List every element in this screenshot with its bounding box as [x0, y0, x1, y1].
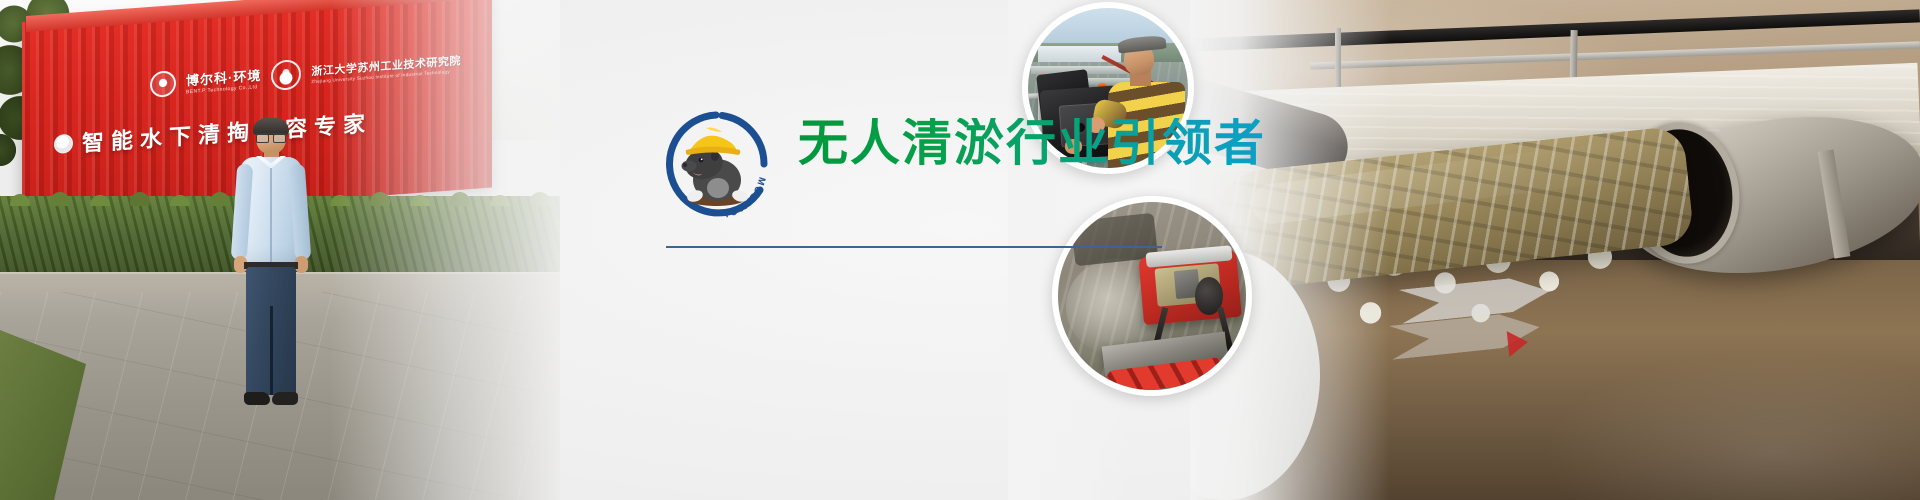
glasses-icon	[256, 133, 286, 140]
left-photo-fade	[330, 0, 560, 500]
right-photo-sludge-pipe	[1190, 0, 1920, 500]
left-photo-engineer-container: 博尔科·环境 BENT.P Technology Co.,Ltd 浙江大学苏州工…	[0, 0, 560, 500]
engineer-figure	[226, 120, 316, 410]
slogan-badge-icon	[54, 133, 73, 153]
mole-mascot-logo-icon: MUD MOLE	[660, 108, 772, 220]
page-title: 无人清淤行业引领者	[798, 118, 1266, 168]
hero-banner: 博尔科·环境 BENT.P Technology Co.,Ltd 浙江大学苏州工…	[0, 0, 1920, 500]
brand-logo[interactable]: MUD MOLE	[660, 108, 772, 220]
center-content-block: MUD MOLE	[660, 100, 1180, 270]
shirt-placket	[270, 168, 272, 262]
divider	[666, 246, 1162, 248]
right-shoe	[272, 392, 298, 405]
trouser-seam	[270, 306, 273, 395]
left-shoe	[244, 392, 270, 405]
red-arrow-icon	[1507, 329, 1530, 357]
company-logo-mark-icon	[150, 70, 176, 98]
partner-logo-mark-icon	[271, 59, 301, 91]
